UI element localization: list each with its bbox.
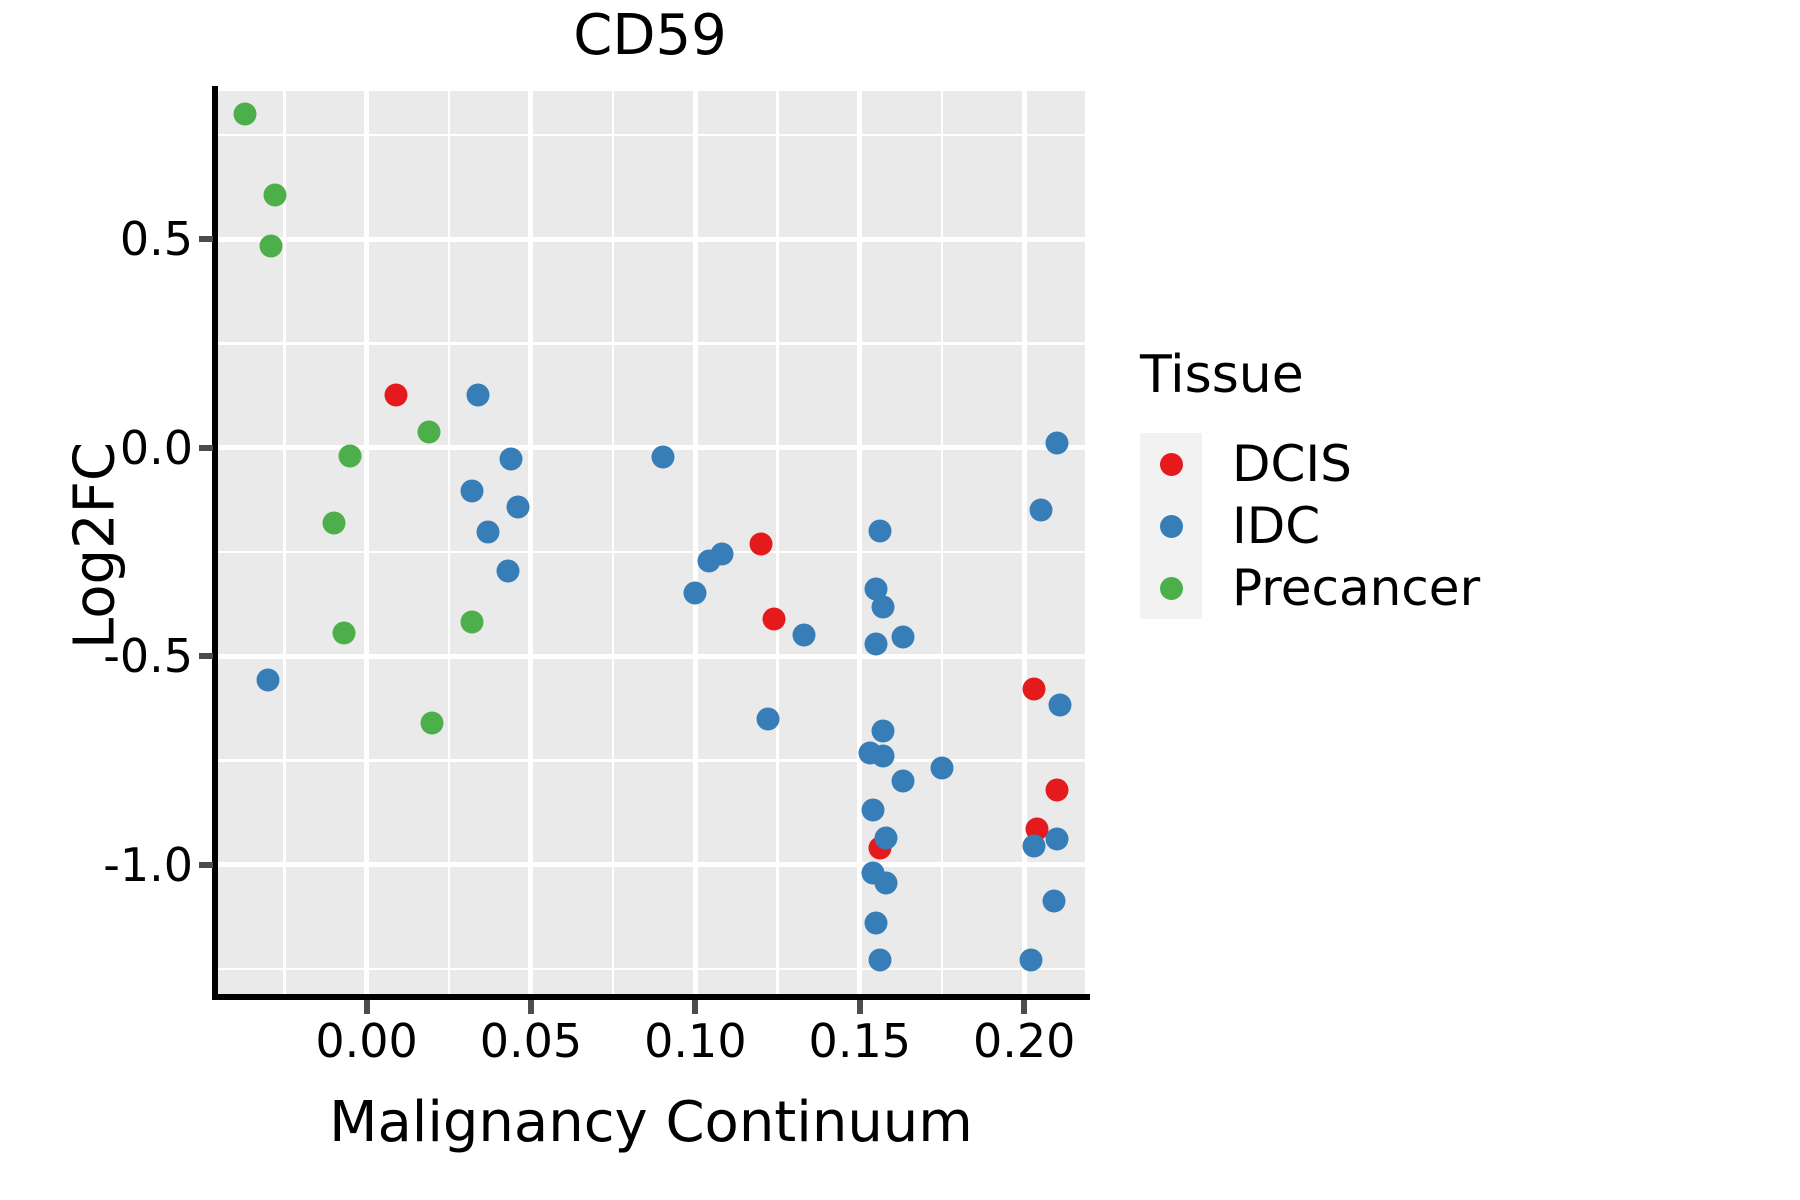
data-point-idc [477,521,500,544]
gridline-minor-vertical [941,91,944,994]
gridline-major-horizontal [217,237,1085,242]
legend-swatch-precancer-icon [1160,577,1183,600]
scatter-plot-figure: CD59 0.50.0-0.5-1.00.000.050.100.150.20 … [0,0,1800,1200]
data-point-dcis [1046,779,1069,802]
y-tick-mark [199,862,213,868]
data-point-idc [651,446,674,469]
data-point-idc [1019,948,1042,971]
data-point-precancer [233,102,256,125]
data-point-idc [891,626,914,649]
gridline-minor-horizontal [217,342,1085,345]
legend-item-idc[interactable]: IDC [1140,495,1700,557]
data-point-idc [506,496,529,519]
x-tick-label: 0.00 [315,1014,417,1068]
y-tick-label: 0.0 [120,421,193,475]
data-point-idc [792,624,815,647]
data-point-precancer [332,622,355,645]
data-point-precancer [460,610,483,633]
gridline-minor-vertical [612,91,615,994]
legend-key [1140,495,1202,557]
page-title: CD59 [210,8,1090,64]
legend-label: Precancer [1232,559,1480,617]
data-point-idc [871,745,894,768]
data-point-idc [460,480,483,503]
data-point-idc [756,707,779,730]
data-point-idc [684,581,707,604]
gridline-minor-vertical [776,91,779,994]
gridline-major-vertical [857,91,862,994]
legend-title: Tissue [1140,345,1700,405]
legend-item-precancer[interactable]: Precancer [1140,557,1700,619]
gridline-major-vertical [1022,91,1027,994]
data-point-dcis [750,533,773,556]
data-point-precancer [260,235,283,258]
y-axis-label: Log2FC [63,146,128,946]
data-point-precancer [263,184,286,207]
data-point-idc [871,720,894,743]
data-point-dcis [1023,677,1046,700]
x-tick-label: 0.20 [973,1014,1075,1068]
x-tick-mark [1021,1000,1027,1014]
legend-key [1140,433,1202,495]
data-point-idc [868,520,891,543]
x-tick-mark [692,1000,698,1014]
gridline-major-horizontal [217,862,1085,867]
gridline-minor-horizontal [217,968,1085,971]
gridline-minor-vertical [283,91,286,994]
data-point-idc [1042,890,1065,913]
gridline-major-vertical [528,91,533,994]
y-tick-label: 0.5 [120,212,193,266]
legend-swatch-dcis-icon [1160,453,1183,476]
legend: Tissue DCISIDCPrecancer [1140,345,1700,619]
data-point-idc [930,756,953,779]
data-point-idc [1023,834,1046,857]
legend-swatch-idc-icon [1160,515,1183,538]
x-tick-mark [364,1000,370,1014]
data-point-idc [865,632,888,655]
data-point-idc [875,872,898,895]
x-tick-mark [857,1000,863,1014]
data-point-idc [256,669,279,692]
data-point-idc [697,550,720,573]
data-point-precancer [418,421,441,444]
gridline-major-vertical [693,91,698,994]
y-tick-mark [199,445,213,451]
gridline-major-vertical [364,91,369,994]
y-tick-mark [199,653,213,659]
data-point-precancer [322,511,345,534]
x-axis-label: Malignancy Continuum [217,1090,1085,1155]
y-tick-mark [199,236,213,242]
legend-key [1140,557,1202,619]
data-point-dcis [385,384,408,407]
legend-label: DCIS [1232,435,1352,493]
data-point-precancer [339,444,362,467]
data-point-idc [496,560,519,583]
data-point-idc [875,826,898,849]
data-point-idc [1029,499,1052,522]
plot-panel [217,91,1085,994]
data-point-idc [1049,694,1072,717]
gridline-minor-vertical [448,91,451,994]
data-point-idc [865,912,888,935]
x-tick-label: 0.10 [644,1014,746,1068]
data-point-idc [891,770,914,793]
x-tick-label: 0.05 [480,1014,582,1068]
gridline-major-horizontal [217,654,1085,659]
data-point-dcis [763,607,786,630]
data-point-idc [868,948,891,971]
data-point-idc [861,798,884,821]
data-point-precancer [421,711,444,734]
x-tick-label: 0.15 [809,1014,911,1068]
data-point-idc [467,384,490,407]
data-point-idc [1046,827,1069,850]
gridline-minor-horizontal [217,551,1085,554]
data-point-idc [871,596,894,619]
data-point-idc [1046,432,1069,455]
x-axis-line [212,994,1090,1000]
x-tick-mark [528,1000,534,1014]
gridline-minor-horizontal [217,759,1085,762]
legend-label: IDC [1232,497,1320,555]
legend-entries: DCISIDCPrecancer [1140,433,1700,619]
data-point-idc [500,448,523,471]
gridline-minor-horizontal [217,134,1085,137]
legend-item-dcis[interactable]: DCIS [1140,433,1700,495]
